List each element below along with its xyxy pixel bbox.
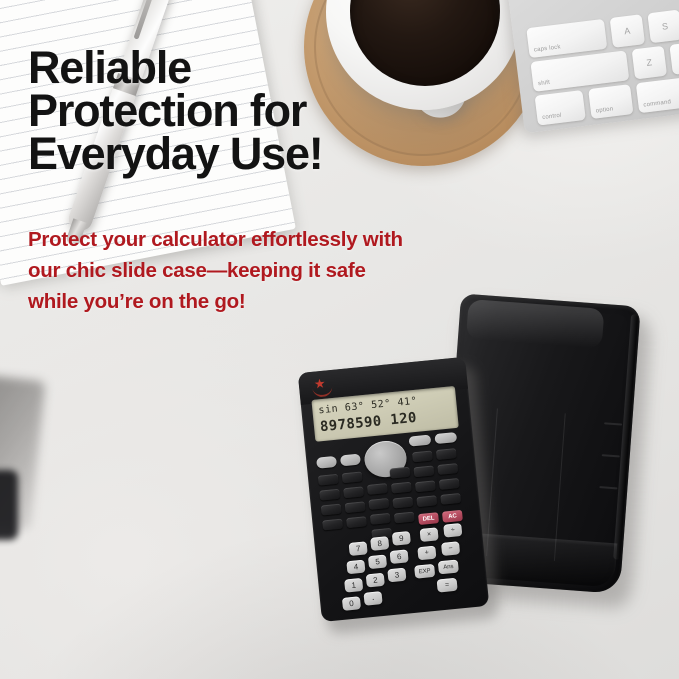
key-func-14[interactable] (345, 501, 366, 513)
key-alpha[interactable] (340, 454, 361, 467)
key-mode[interactable] (408, 435, 431, 447)
key-7[interactable]: 7 (349, 541, 368, 556)
key-s: S (647, 10, 679, 44)
key-func-12[interactable] (437, 463, 458, 475)
key-func-17[interactable] (415, 480, 436, 492)
key-1[interactable]: 1 (344, 578, 363, 593)
key-x: X (669, 41, 679, 75)
key-3[interactable]: 3 (387, 568, 406, 583)
key-5[interactable]: 5 (368, 554, 387, 569)
key-plus[interactable]: + (417, 546, 436, 561)
key-2[interactable]: 2 (366, 573, 385, 588)
key-multiply[interactable]: × (420, 527, 439, 542)
key-func-10[interactable] (391, 482, 412, 494)
key-option: option (588, 84, 633, 119)
star-logo-icon: ★ (311, 377, 335, 397)
case-notch (602, 454, 620, 457)
blurred-dark-object-left (0, 470, 18, 540)
key-divide[interactable]: ÷ (443, 523, 462, 538)
key-func-19[interactable] (322, 519, 343, 531)
key-equals[interactable]: = (437, 578, 458, 593)
key-0[interactable]: 0 (342, 596, 361, 611)
subtitle-line-1: Protect your calculator effortlessly wit… (28, 224, 498, 255)
key-a: A (610, 14, 645, 48)
subtitle-line-3: while you’re on the go! (28, 286, 498, 317)
key-4[interactable]: 4 (346, 560, 365, 575)
key-del[interactable]: DEL (418, 512, 439, 525)
key-decimal-point[interactable]: · (363, 591, 382, 606)
calculator-keypad: DEL AC 7 8 9 × ÷ 4 5 6 + − 1 2 3 EXP Ans… (305, 428, 490, 622)
key-shift[interactable] (316, 456, 337, 469)
key-func-1[interactable] (318, 474, 339, 486)
key-func-4[interactable] (389, 467, 410, 479)
key-caps-lock: caps lock (526, 19, 607, 58)
key-exp[interactable]: EXP (414, 564, 435, 579)
key-func-22[interactable] (394, 512, 415, 524)
key-8[interactable]: 8 (370, 536, 389, 551)
key-func-18[interactable] (439, 478, 460, 490)
headline-line-3: Everyday Use! (28, 132, 448, 175)
headline: Reliable Protection for Everyday Use! (28, 46, 448, 176)
key-func-23[interactable] (416, 495, 437, 507)
key-func-15[interactable] (370, 513, 391, 525)
key-ans[interactable]: Ans (438, 559, 459, 574)
key-control: control (535, 90, 586, 126)
key-6[interactable]: 6 (390, 549, 409, 564)
key-func-16[interactable] (392, 497, 413, 509)
product-banner-scene: caps lock A S shift Z X control option c… (0, 0, 679, 679)
subtitle: Protect your calculator effortlessly wit… (28, 224, 498, 317)
key-command: command (636, 77, 679, 113)
case-notch (599, 486, 617, 489)
key-ac[interactable]: AC (442, 510, 463, 523)
key-func-9[interactable] (368, 498, 389, 510)
key-func-3[interactable] (367, 483, 388, 495)
subtitle-line-2: our chic slide case—keeping it safe (28, 255, 498, 286)
key-func-6[interactable] (436, 448, 457, 460)
headline-line-1: Reliable (28, 46, 448, 89)
key-on[interactable] (434, 432, 457, 444)
key-z: Z (632, 46, 667, 80)
key-func-20[interactable] (346, 516, 367, 528)
computer-keyboard: caps lock A S shift Z X control option c… (501, 0, 679, 133)
key-9[interactable]: 9 (392, 531, 411, 546)
key-func-11[interactable] (413, 465, 434, 477)
key-minus[interactable]: − (441, 541, 460, 556)
key-func-8[interactable] (343, 486, 364, 498)
key-func-5[interactable] (412, 450, 433, 462)
key-func-24[interactable] (440, 493, 461, 505)
calculator-body: ★ sin 63° 52° 41° 8978590 120 (298, 357, 490, 622)
case-notch (604, 422, 622, 425)
key-func-13[interactable] (321, 504, 342, 516)
key-func-2[interactable] (342, 471, 363, 483)
key-func-7[interactable] (319, 489, 340, 501)
headline-line-2: Protection for (28, 89, 448, 132)
scientific-calculator: ★ sin 63° 52° 41° 8978590 120 (298, 356, 499, 632)
